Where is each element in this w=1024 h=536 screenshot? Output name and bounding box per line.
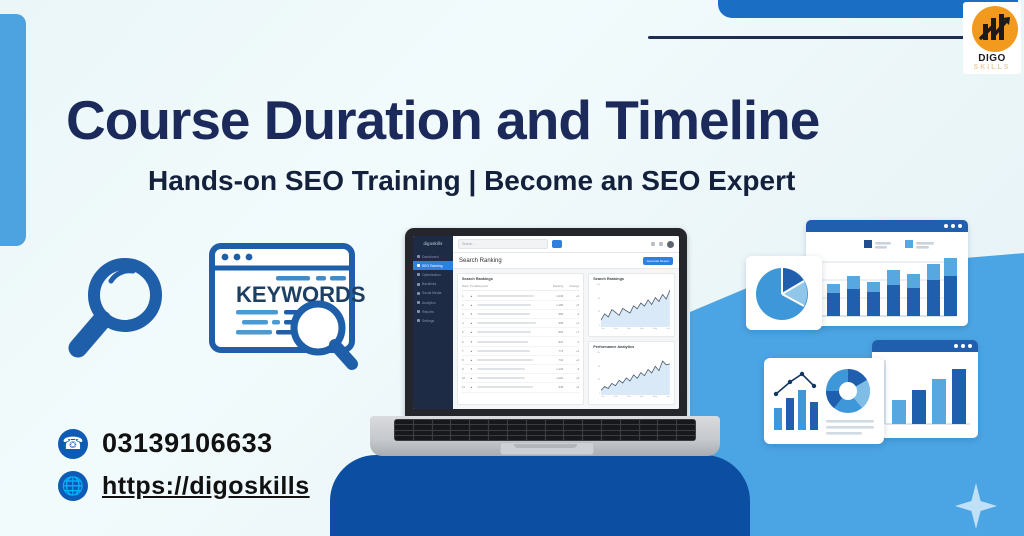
table-rows: 1▲1,240+32▲1,180+53▼980-24▲905+15▲864+76… <box>462 292 579 393</box>
dashboard-charts: Search Rankings 10066330 JanFebMarAprMay… <box>588 273 675 405</box>
x-tick: Mar <box>627 328 631 333</box>
key <box>658 436 676 440</box>
cell-rank: 5 <box>462 330 470 334</box>
key <box>433 425 451 429</box>
backlinks-icon <box>417 283 420 286</box>
key <box>451 425 469 429</box>
plot-area <box>601 352 670 395</box>
window-dot <box>954 344 958 348</box>
key <box>489 420 507 424</box>
key <box>508 436 526 440</box>
cell-keyword <box>477 304 547 306</box>
key <box>489 436 507 440</box>
y-tick: 33 <box>598 379 600 381</box>
laptop-screen: digoskills Dashboard SEO Ranking Optimiz… <box>413 236 679 409</box>
cell-trend: ▲ <box>470 349 477 353</box>
area-fill <box>601 290 670 327</box>
x-tick: May <box>653 328 657 333</box>
ranking-icon <box>417 264 420 267</box>
key <box>489 425 507 429</box>
sidebar-item-dashboard[interactable]: Dashboard <box>413 252 453 261</box>
sidebar-item-label: SEO Ranking <box>422 264 443 268</box>
cell-change: +7 <box>563 330 579 334</box>
key <box>564 431 582 435</box>
cell-keyword <box>477 359 547 361</box>
window-dot <box>951 224 955 228</box>
key <box>602 420 620 424</box>
key <box>508 431 526 435</box>
cell-trend: ▲ <box>470 303 477 307</box>
x-tick: Jun <box>666 328 670 333</box>
x-tick: Feb <box>614 328 618 333</box>
column-rank: Rank <box>462 284 470 288</box>
sidebar-item-social-media[interactable]: Social Media <box>413 289 453 298</box>
cell-change: -2 <box>563 312 579 316</box>
search-icon[interactable] <box>552 240 562 248</box>
column-trend: Trend <box>470 284 477 288</box>
table-row[interactable]: 5▲864+7 <box>462 328 579 337</box>
y-tick: 0 <box>599 325 600 327</box>
cell-trend: ▼ <box>470 312 477 316</box>
keyword-text <box>477 341 528 343</box>
column-keyword: Keyword <box>477 284 547 288</box>
table-row[interactable]: 11▲948+2 <box>462 383 579 392</box>
window-dot <box>944 224 948 228</box>
x-tick: Apr <box>640 396 643 401</box>
key <box>602 431 620 435</box>
key <box>489 431 507 435</box>
keyword-text <box>477 295 534 297</box>
key <box>433 431 451 435</box>
gear-icon <box>417 319 420 322</box>
sidebar-item-reports[interactable]: Reports <box>413 307 453 316</box>
column-ranking: Ranking <box>547 284 563 288</box>
bar-chart <box>872 352 978 438</box>
y-tick: 100 <box>597 352 601 354</box>
keyword-text <box>477 350 530 352</box>
key <box>621 420 639 424</box>
y-tick: 33 <box>598 311 600 313</box>
dashboard-page-title: Search Ranking <box>459 258 502 264</box>
laptop-base <box>370 416 720 456</box>
cell-rank: 6 <box>462 340 470 344</box>
x-tick: Jan <box>601 396 605 401</box>
cell-ranking: 821 <box>547 340 563 344</box>
cell-trend: ▲ <box>470 294 477 298</box>
analytics-icon <box>417 301 420 304</box>
bar-chart-window <box>872 340 978 438</box>
chart-area: 10066330 JanFebMarAprMayJun <box>593 352 670 401</box>
key <box>564 436 582 440</box>
cell-ranking: 980 <box>547 312 563 316</box>
window-dot <box>958 224 962 228</box>
x-axis-ticks: JanFebMarAprMayJun <box>601 396 670 401</box>
dashboard-body: Search Rankings Rank Trend Keyword Ranki… <box>453 269 679 409</box>
cell-change: +6 <box>563 376 579 380</box>
dashboard-page-header: Search Ranking Generate Report <box>453 253 679 269</box>
cell-trend: ▲ <box>470 385 477 389</box>
key <box>470 431 488 435</box>
sidebar-item-label: Optimization <box>422 273 441 277</box>
cell-rank: 3 <box>462 312 470 316</box>
keyword-text <box>477 313 530 315</box>
left-accent-bar <box>0 14 26 246</box>
cell-ranking: 864 <box>547 330 563 334</box>
key <box>621 431 639 435</box>
keyword-text <box>477 368 525 370</box>
pie-chart-card <box>746 256 822 330</box>
key <box>433 436 451 440</box>
cell-keyword <box>477 295 547 297</box>
cell-rank: 7 <box>462 349 470 353</box>
dashboard-main: Search... Search Ranking Generate Report <box>453 236 679 409</box>
dashboard-topbar: Search... <box>453 236 679 253</box>
laptop-mockup: digoskills Dashboard SEO Ranking Optimiz… <box>370 228 720 480</box>
window-dot <box>968 344 972 348</box>
social-icon <box>417 292 420 295</box>
key <box>546 436 564 440</box>
key <box>583 431 601 435</box>
x-tick: Feb <box>614 396 618 401</box>
cell-trend: ▲ <box>470 376 477 380</box>
key <box>508 425 526 429</box>
key <box>527 420 545 424</box>
table-row[interactable]: 8▲710+2 <box>462 356 579 365</box>
x-tick: Jun <box>666 396 670 401</box>
key <box>470 420 488 424</box>
area-chart <box>601 352 670 395</box>
key <box>602 436 620 440</box>
window-titlebar <box>872 340 978 352</box>
keyword-text <box>477 304 531 306</box>
logo-circle <box>972 6 1018 52</box>
table-row[interactable]: 7▲772+4 <box>462 347 579 356</box>
cell-ranking: 948 <box>547 385 563 389</box>
table-row[interactable]: 3▼980-2 <box>462 310 579 319</box>
key <box>414 431 432 435</box>
sidebar-item-seo-ranking[interactable]: SEO Ranking <box>413 261 453 270</box>
key <box>451 431 469 435</box>
key <box>508 420 526 424</box>
cell-ranking: 772 <box>547 349 563 353</box>
key <box>677 436 695 440</box>
key <box>602 425 620 429</box>
logo-plate: DIGO SKILLS <box>963 2 1021 74</box>
optimization-icon <box>417 273 420 276</box>
key <box>583 436 601 440</box>
phone-number: 03139106633 <box>102 428 273 459</box>
key <box>583 420 601 424</box>
y-axis-ticks: 10066330 <box>593 352 600 395</box>
table-title: Search Rankings <box>462 277 579 281</box>
x-tick: Jan <box>601 328 605 333</box>
cell-ranking: 905 <box>547 321 563 325</box>
cell-rank: 8 <box>462 358 470 362</box>
key <box>414 420 432 424</box>
cell-keyword <box>477 377 547 379</box>
magnifier-icon <box>58 250 176 368</box>
table-row[interactable]: 4▲905+1 <box>462 319 579 328</box>
sidebar-item-label: Backlinks <box>422 282 436 286</box>
magnifier-illustration <box>58 250 176 368</box>
logo-subtext: SKILLS <box>963 64 1021 71</box>
keyword-text <box>477 359 533 361</box>
cell-keyword <box>477 331 547 333</box>
stacked-bar-chart-window <box>806 220 968 326</box>
key <box>677 431 695 435</box>
keyword-text <box>477 331 531 333</box>
key <box>621 436 639 440</box>
key <box>658 425 676 429</box>
cell-trend: ▲ <box>470 358 477 362</box>
y-tick: 66 <box>598 366 600 368</box>
cell-ranking: 710 <box>547 358 563 362</box>
key <box>414 436 432 440</box>
avatar[interactable] <box>667 241 674 248</box>
laptop-keyboard <box>394 419 696 441</box>
key <box>621 425 639 429</box>
cell-ranking: 1,020 <box>547 376 563 380</box>
cell-change: +3 <box>563 294 579 298</box>
website-row[interactable]: 🌐 https://digoskills <box>58 471 310 501</box>
cell-keyword <box>477 386 547 388</box>
sidebar-item-label: Reports <box>422 310 434 314</box>
key <box>527 425 545 429</box>
chart-title: Performance Analytics <box>593 345 670 349</box>
line-bar-donut-card <box>764 358 884 444</box>
sidebar-item-backlinks[interactable]: Backlinks <box>413 280 453 289</box>
logo-wordmark: DIGO <box>963 53 1021 64</box>
cell-rank: 2 <box>462 303 470 307</box>
cell-ranking: 1,240 <box>547 294 563 298</box>
key <box>527 431 545 435</box>
area-fill <box>601 361 670 395</box>
x-axis-ticks: JanFebMarAprMayJun <box>601 328 670 333</box>
key <box>527 436 545 440</box>
table-row[interactable]: 9▼1,126-3 <box>462 365 579 374</box>
dashboard-icon <box>417 255 420 258</box>
key <box>414 425 432 429</box>
page-subtitle: Hands-on SEO Training | Become an SEO Ex… <box>148 165 1008 197</box>
top-divider-line <box>648 36 978 39</box>
cell-trend: ▼ <box>470 340 477 344</box>
cell-keyword <box>477 368 547 370</box>
cell-keyword <box>477 341 547 343</box>
website-url[interactable]: https://digoskills <box>102 472 310 501</box>
cell-rank: 11 <box>462 385 470 389</box>
x-tick: Mar <box>627 396 631 401</box>
dashboard-sidebar[interactable]: digoskills Dashboard SEO Ranking Optimiz… <box>413 236 453 409</box>
cell-change: -3 <box>563 367 579 371</box>
keyword-text <box>477 377 525 379</box>
sidebar-item-label: Analytics <box>422 301 436 305</box>
keywords-illustration: KEYWORDS <box>206 240 376 372</box>
plot-area <box>601 284 670 327</box>
key <box>546 420 564 424</box>
page-title: Course Duration and Timeline <box>66 92 966 150</box>
table-row[interactable]: 10▲1,020+6 <box>462 374 579 383</box>
key <box>395 420 413 424</box>
table-row[interactable]: 6▼821-1 <box>462 337 579 346</box>
sidebar-item-optimization[interactable]: Optimization <box>413 270 453 279</box>
table-row[interactable]: 1▲1,240+3 <box>462 292 579 301</box>
chart-title: Search Rankings <box>593 277 670 281</box>
search-rankings-chart-card: Search Rankings 10066330 JanFebMarAprMay… <box>588 273 675 337</box>
key <box>395 431 413 435</box>
cell-change: +4 <box>563 349 579 353</box>
sidebar-item-settings[interactable]: Settings <box>413 316 453 325</box>
key <box>677 420 695 424</box>
banner-canvas: DIGO SKILLS Course Duration and Timeline… <box>0 0 1024 536</box>
grid-icon[interactable] <box>651 242 655 246</box>
y-tick: 66 <box>598 298 600 300</box>
key <box>451 420 469 424</box>
chart-area: 10066330 JanFebMarAprMayJun <box>593 284 670 333</box>
key <box>640 436 658 440</box>
cell-rank: 4 <box>462 321 470 325</box>
key <box>395 436 413 440</box>
dashboard-logo: digoskills <box>413 241 453 246</box>
laptop-lid: digoskills Dashboard SEO Ranking Optimiz… <box>405 228 687 418</box>
sidebar-item-label: Dashboard <box>422 255 439 259</box>
area-chart <box>601 284 670 327</box>
key <box>395 425 413 429</box>
cell-change: +5 <box>563 303 579 307</box>
sidebar-item-label: Social Media <box>422 291 441 295</box>
cell-rank: 10 <box>462 376 470 380</box>
sidebar-item-analytics[interactable]: Analytics <box>413 298 453 307</box>
window-dot <box>961 344 965 348</box>
cell-ranking: 1,180 <box>547 303 563 307</box>
key <box>640 420 658 424</box>
column-change: Change <box>563 284 579 288</box>
cell-trend: ▲ <box>470 330 477 334</box>
key <box>640 425 658 429</box>
key <box>433 420 451 424</box>
key <box>658 431 676 435</box>
laptop-trackpad <box>500 442 594 455</box>
performance-analytics-chart-card: Performance Analytics 10066330 JanFebMar… <box>588 341 675 405</box>
table-header: Rank Trend Keyword Ranking Change <box>462 284 579 291</box>
y-axis-ticks: 10066330 <box>593 284 600 327</box>
bar-chart-arrow-icon <box>972 6 1018 52</box>
keyword-text <box>477 322 536 324</box>
reports-icon <box>417 310 420 313</box>
cell-keyword <box>477 350 547 352</box>
cell-keyword <box>477 313 547 315</box>
mixed-chart <box>764 358 884 444</box>
key <box>546 425 564 429</box>
cell-change: +1 <box>563 321 579 325</box>
cell-keyword <box>477 322 547 324</box>
pie-chart <box>746 256 822 330</box>
cell-rank: 9 <box>462 367 470 371</box>
cell-trend: ▼ <box>470 367 477 371</box>
sidebar-item-label: Settings <box>422 319 434 323</box>
key <box>546 431 564 435</box>
generate-report-button[interactable]: Generate Report <box>643 257 673 265</box>
contact-block: ☎ 03139106633 🌐 https://digoskills <box>58 428 310 513</box>
key <box>470 425 488 429</box>
stacked-bar-chart <box>806 232 968 326</box>
key <box>564 420 582 424</box>
globe-icon: 🌐 <box>58 471 88 501</box>
keyword-text <box>477 386 533 388</box>
phone-row[interactable]: ☎ 03139106633 <box>58 428 310 459</box>
cell-rank: 1 <box>462 294 470 298</box>
key <box>640 431 658 435</box>
x-tick: Apr <box>640 328 643 333</box>
cell-trend: ▲ <box>470 321 477 325</box>
cell-ranking: 1,126 <box>547 367 563 371</box>
x-tick: May <box>653 396 657 401</box>
key <box>451 436 469 440</box>
key <box>677 425 695 429</box>
window-titlebar <box>806 220 968 232</box>
key <box>470 436 488 440</box>
search-input[interactable]: Search... <box>458 239 548 249</box>
table-row[interactable]: 2▲1,180+5 <box>462 301 579 310</box>
key <box>658 420 676 424</box>
cell-change: +2 <box>563 385 579 389</box>
search-rankings-table-card: Search Rankings Rank Trend Keyword Ranki… <box>457 273 584 405</box>
keywords-label: KEYWORDS <box>236 282 366 307</box>
key <box>583 425 601 429</box>
y-tick: 0 <box>599 393 600 395</box>
cell-change: -1 <box>563 340 579 344</box>
bell-icon[interactable] <box>659 242 663 246</box>
key <box>564 425 582 429</box>
y-tick: 100 <box>597 284 601 286</box>
cell-change: +2 <box>563 358 579 362</box>
phone-icon: ☎ <box>58 429 88 459</box>
